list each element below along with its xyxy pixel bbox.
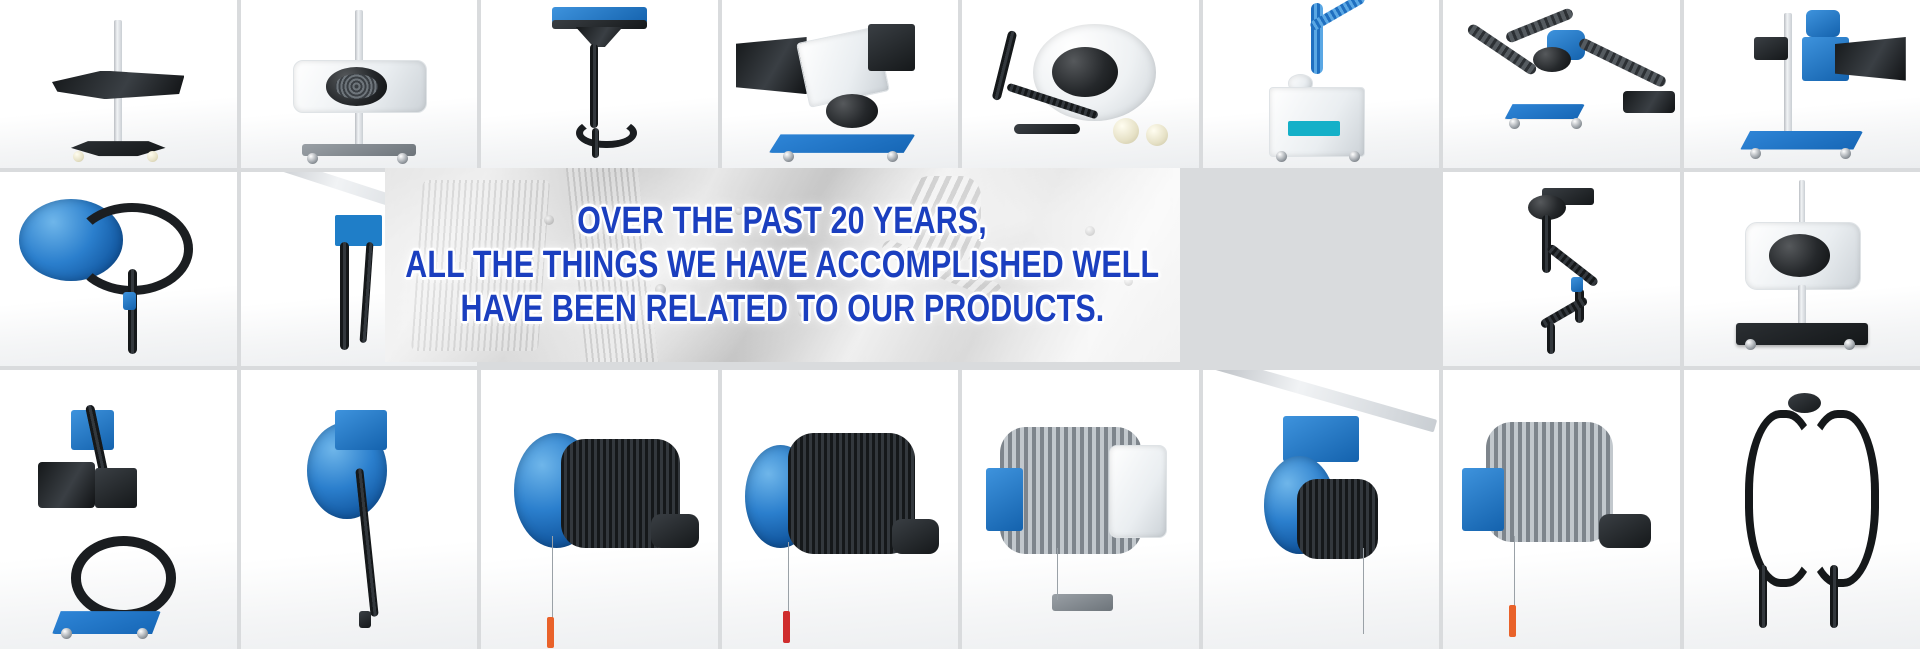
product-tile[interactable] — [241, 0, 478, 168]
product-tile[interactable] — [1684, 370, 1920, 649]
product-tile[interactable] — [0, 172, 237, 366]
product-tile[interactable] — [0, 0, 237, 168]
product-tile[interactable] — [1203, 0, 1440, 168]
product-tile[interactable] — [722, 0, 959, 168]
product-tile[interactable] — [241, 370, 478, 649]
product-tile[interactable] — [1684, 172, 1920, 366]
product-tile[interactable] — [962, 370, 1199, 649]
slogan-line-2: ALL THE THINGS WE HAVE ACCOMPLISHED WELL — [406, 246, 1160, 284]
slogan-line-1: OVER THE PAST 20 YEARS, — [578, 202, 988, 240]
slogan-text-block: OVER THE PAST 20 YEARS, ALL THE THINGS W… — [385, 168, 1180, 362]
product-tile[interactable] — [481, 370, 718, 649]
product-tile[interactable] — [1443, 172, 1680, 366]
product-tile[interactable] — [1443, 0, 1680, 168]
slogan-line-3: HAVE BEEN RELATED TO OUR PRODUCTS. — [461, 290, 1105, 328]
product-tile[interactable] — [722, 370, 959, 649]
product-tile[interactable] — [1684, 0, 1920, 168]
product-tile[interactable] — [1203, 370, 1440, 649]
product-tile[interactable] — [481, 0, 718, 168]
slogan-overlay: OVER THE PAST 20 YEARS, ALL THE THINGS W… — [385, 168, 1180, 362]
product-tile[interactable] — [1443, 370, 1680, 649]
company-banner: OVER THE PAST 20 YEARS, ALL THE THINGS W… — [0, 0, 1920, 649]
product-tile[interactable] — [962, 0, 1199, 168]
product-tile[interactable] — [0, 370, 237, 649]
